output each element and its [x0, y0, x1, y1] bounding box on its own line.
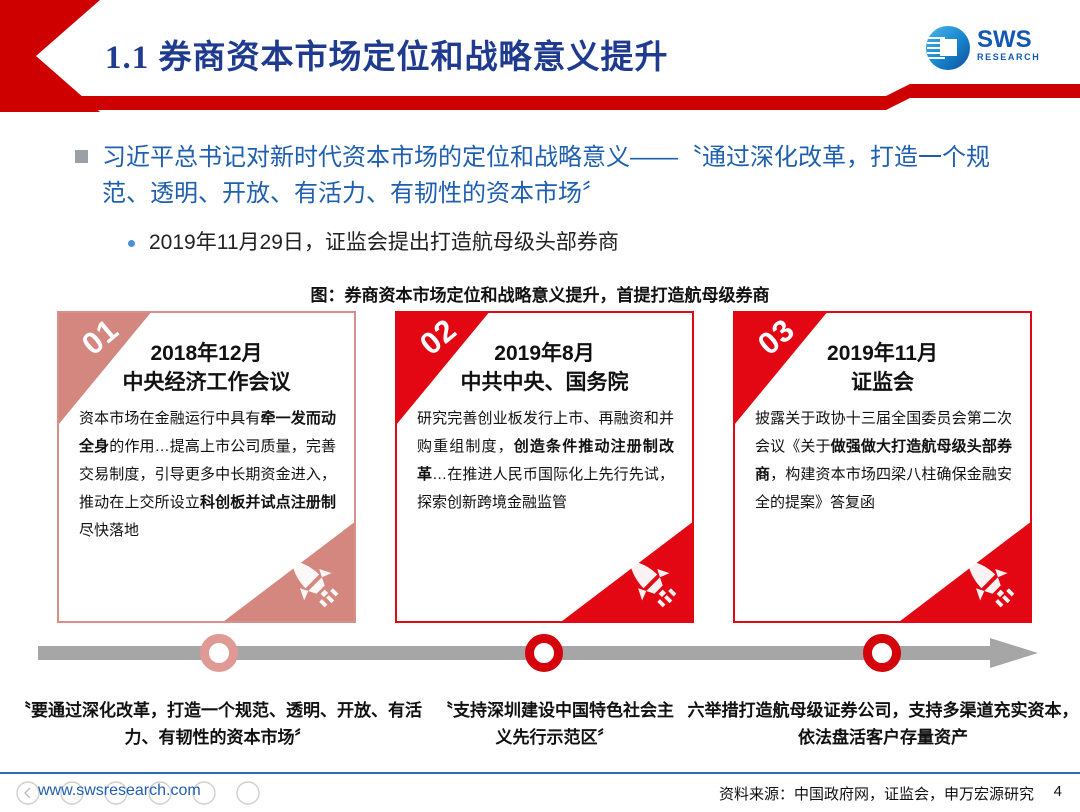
- timeline-card-02: 02 2019年8月 中共中央、国务院 研究完善创业板发行上市、再融资和并购重组…: [395, 311, 694, 623]
- card-body: 资本市场在金融运行中具有牵一发而动全身的作用…提高上市公司质量，完善交易制度，引…: [79, 405, 336, 545]
- card-body: 披露关于政协十三届全国委员会第二次会议《关于做强做大打造航母级头部券商，构建资本…: [755, 405, 1012, 517]
- card-body: 研究完善创业板发行上市、再融资和并购重组制度，创造条件推动注册制改革…在推进人民…: [417, 405, 674, 517]
- sws-logo-mark-icon: [925, 25, 971, 71]
- rocket-icon: [280, 549, 342, 611]
- card-title-line2: 中央经济工作会议: [73, 368, 340, 397]
- timeline-captions: 〝要通过深化改革，打造一个规范、透明、开放、有活力、有韧性的资本市场〞 〝支持深…: [0, 697, 1080, 757]
- card-title-line2: 中共中央、国务院: [411, 368, 678, 397]
- timeline-card-01: 01 2018年12月 中央经济工作会议 资本市场在金融运行中具有牵一发而动全身…: [57, 311, 356, 623]
- card-title: 2019年11月 证监会: [749, 339, 1016, 397]
- footer-page-number: 4: [1054, 783, 1062, 800]
- timeline-caption-2: 〝支持深圳建设中国特色社会主义先行示范区〞: [430, 697, 680, 751]
- rocket-icon: [956, 549, 1018, 611]
- sub-bullet-text: 2019年11月29日，证监会提出打造航母级头部券商: [149, 228, 619, 258]
- slide: 1.1 券商资本市场定位和战略意义提升: [0, 0, 1080, 812]
- logo-primary-text: SWS: [977, 28, 1040, 52]
- timeline-cards: 01 2018年12月 中央经济工作会议 资本市场在金融运行中具有牵一发而动全身…: [57, 311, 1033, 623]
- sub-bullet: 2019年11月29日，证监会提出打造航母级头部券商: [128, 228, 619, 258]
- page-title: 1.1 券商资本市场定位和战略意义提升: [105, 30, 669, 78]
- bullet-dot-icon: [128, 240, 135, 247]
- card-title-line1: 2019年8月: [411, 339, 678, 368]
- sws-logo-text: SWS RESEARCH: [977, 28, 1040, 63]
- bullet-square-icon: [75, 150, 88, 163]
- timeline-marker-2: [525, 634, 563, 672]
- figure-caption: 图：券商资本市场定位和战略意义提升，首提打造航母级券商: [0, 281, 1080, 306]
- timeline-marker-3: [863, 634, 901, 672]
- card-title-line1: 2019年11月: [749, 339, 1016, 368]
- main-bullet-text: 习近平总书记对新时代资本市场的定位和战略意义——〝通过深化改革，打造一个规范、透…: [102, 140, 1035, 212]
- footer-url[interactable]: www.swsresearch.com: [38, 782, 201, 800]
- timeline-caption-1: 〝要通过深化改革，打造一个规范、透明、开放、有活力、有韧性的资本市场〞: [8, 697, 428, 751]
- slide-header: 1.1 券商资本市场定位和战略意义提升: [0, 0, 1080, 112]
- footer-source: 资料来源：中国政府网，证监会，申万宏源研究: [719, 783, 1034, 804]
- card-title: 2019年8月 中共中央、国务院: [411, 339, 678, 397]
- timeline-marker-1: [200, 634, 238, 672]
- card-title: 2018年12月 中央经济工作会议: [73, 339, 340, 397]
- card-title-line2: 证监会: [749, 368, 1016, 397]
- timeline-card-03: 03 2019年11月 证监会 披露关于政协十三届全国委员会第二次会议《关于做强…: [733, 311, 1032, 623]
- slide-footer: www.swsresearch.com 资料来源：中国政府网，证监会，申万宏源研…: [0, 774, 1080, 812]
- sws-logo: SWS RESEARCH: [925, 25, 1065, 73]
- card-title-line1: 2018年12月: [73, 339, 340, 368]
- main-bullet: 习近平总书记对新时代资本市场的定位和战略意义——〝通过深化改革，打造一个规范、透…: [75, 140, 1035, 212]
- timeline-arrow: [38, 638, 1038, 686]
- logo-secondary-text: RESEARCH: [977, 52, 1040, 63]
- timeline-caption-3: 六举措打造航母级证券公司，支持多渠道充实资本，依法盘活客户存量资产: [686, 697, 1080, 751]
- rocket-icon: [618, 549, 680, 611]
